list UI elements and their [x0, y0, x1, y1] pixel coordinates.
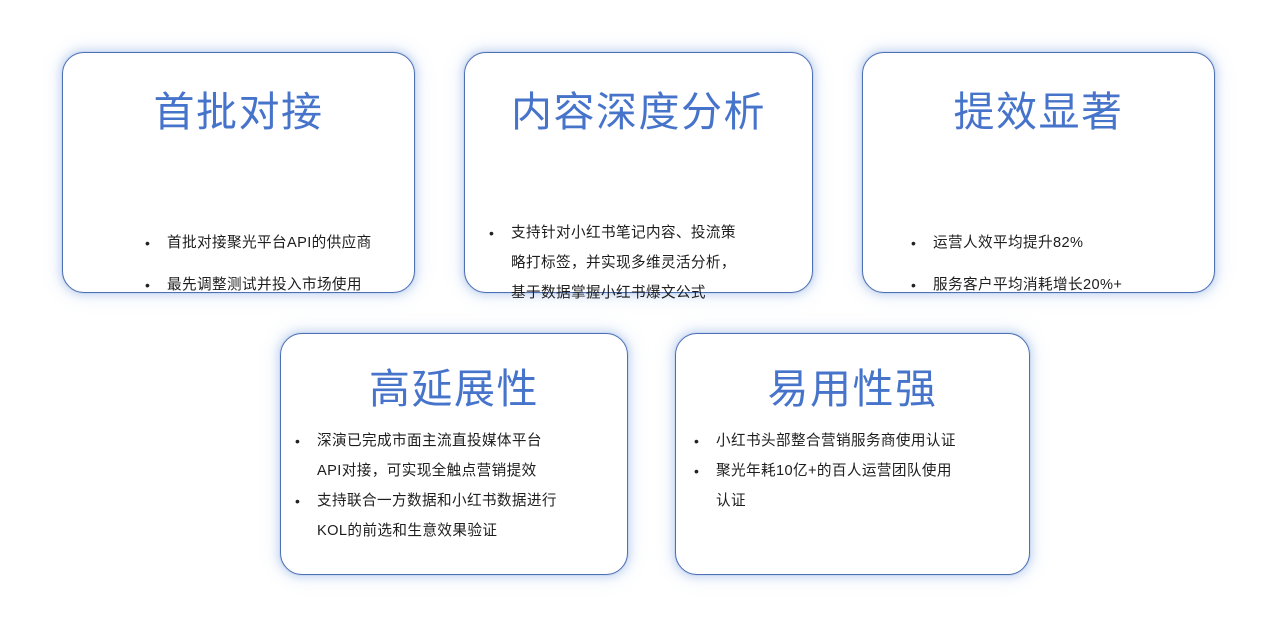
list-item: • 深演已完成市面主流直投媒体平台 API对接，可实现全触点营销提效	[295, 426, 615, 486]
bullet-dot-icon: •	[295, 426, 317, 456]
card-title: 高延展性	[281, 368, 627, 411]
list-item: • 最先调整测试并投入市场使用	[145, 270, 415, 300]
card-title: 内容深度分析	[465, 91, 812, 134]
card-bullet-list: • 深演已完成市面主流直投媒体平台 API对接，可实现全触点营销提效 • 支持联…	[295, 426, 615, 546]
card-bullet-list: • 首批对接聚光平台API的供应商 • 最先调整测试并投入市场使用	[145, 228, 415, 300]
feature-card-ease-of-use[interactable]: 易用性强 • 小红书头部整合营销服务商使用认证 • 聚光年耗10亿+的百人运营团…	[675, 333, 1030, 575]
list-item-text: 支持针对小红书笔记内容、投流策 略打标签，并实现多维灵活分析， 基于数据掌握小红…	[511, 218, 799, 308]
list-item-text: 运营人效平均提升82%	[933, 228, 1201, 258]
list-item: • 服务客户平均消耗增长20%+	[911, 270, 1201, 300]
list-item: • 首批对接聚光平台API的供应商	[145, 228, 415, 258]
bullet-dot-icon: •	[694, 426, 716, 456]
list-item-text: 最先调整测试并投入市场使用	[167, 270, 415, 300]
feature-card-content-deep-analysis[interactable]: 内容深度分析 • 支持针对小红书笔记内容、投流策 略打标签，并实现多维灵活分析，…	[464, 52, 813, 293]
list-item-text: 首批对接聚光平台API的供应商	[167, 228, 415, 258]
list-item-text: 服务客户平均消耗增长20%+	[933, 270, 1201, 300]
list-item: • 运营人效平均提升82%	[911, 228, 1201, 258]
list-item: • 聚光年耗10亿+的百人运营团队使用 认证	[694, 456, 1014, 516]
bullet-dot-icon: •	[694, 456, 716, 486]
card-title: 易用性强	[676, 368, 1029, 411]
card-bullet-list: • 运营人效平均提升82% • 服务客户平均消耗增长20%+	[911, 228, 1201, 300]
feature-card-efficiency-gain[interactable]: 提效显著 • 运营人效平均提升82% • 服务客户平均消耗增长20%+	[862, 52, 1215, 293]
bullet-dot-icon: •	[911, 270, 933, 300]
card-title: 首批对接	[63, 91, 414, 134]
slide-canvas: 首批对接 • 首批对接聚光平台API的供应商 • 最先调整测试并投入市场使用 内…	[0, 0, 1280, 625]
bullet-dot-icon: •	[145, 270, 167, 300]
bullet-dot-icon: •	[145, 228, 167, 258]
card-bullet-list: • 支持针对小红书笔记内容、投流策 略打标签，并实现多维灵活分析， 基于数据掌握…	[489, 218, 799, 308]
card-bullet-list: • 小红书头部整合营销服务商使用认证 • 聚光年耗10亿+的百人运营团队使用 认…	[694, 426, 1014, 516]
list-item-text: 聚光年耗10亿+的百人运营团队使用 认证	[716, 456, 1014, 516]
list-item-text: 小红书头部整合营销服务商使用认证	[716, 426, 1014, 456]
list-item-text: 深演已完成市面主流直投媒体平台 API对接，可实现全触点营销提效	[317, 426, 615, 486]
list-item: • 支持联合一方数据和小红书数据进行 KOL的前选和生意效果验证	[295, 486, 615, 546]
list-item: • 小红书头部整合营销服务商使用认证	[694, 426, 1014, 456]
card-title: 提效显著	[863, 91, 1214, 134]
list-item-text: 支持联合一方数据和小红书数据进行 KOL的前选和生意效果验证	[317, 486, 615, 546]
bullet-dot-icon: •	[295, 486, 317, 516]
feature-card-high-extensibility[interactable]: 高延展性 • 深演已完成市面主流直投媒体平台 API对接，可实现全触点营销提效 …	[280, 333, 628, 575]
bullet-dot-icon: •	[911, 228, 933, 258]
bullet-dot-icon: •	[489, 218, 511, 248]
list-item: • 支持针对小红书笔记内容、投流策 略打标签，并实现多维灵活分析， 基于数据掌握…	[489, 218, 799, 308]
feature-card-first-integration[interactable]: 首批对接 • 首批对接聚光平台API的供应商 • 最先调整测试并投入市场使用	[62, 52, 415, 293]
